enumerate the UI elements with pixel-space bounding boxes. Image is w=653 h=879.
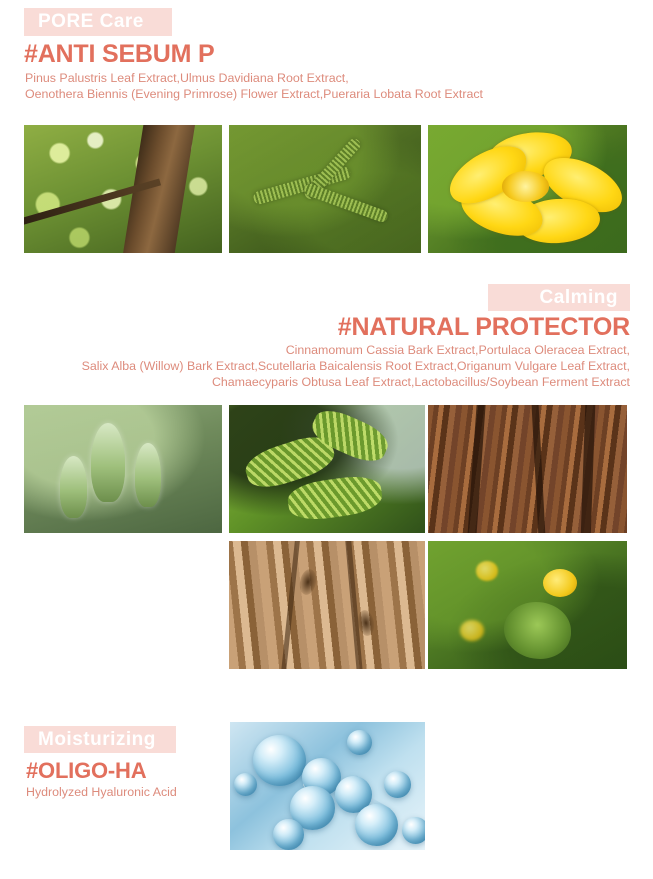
molecule-atom [253, 735, 306, 786]
molecule-atom [347, 730, 372, 756]
badge-moisturizing: Moisturizing [24, 726, 176, 753]
ingredient-list-moisturizing: Hydrolyzed Hyaluronic Acid [26, 784, 226, 800]
molecule-atom [402, 817, 425, 844]
molecule-atom [273, 819, 304, 850]
bark-crack-shape [467, 405, 486, 533]
molecule-atom [355, 804, 398, 846]
spruce-sprig-photo [229, 125, 421, 253]
stick-seam-shape [280, 541, 300, 669]
yellow-wildflower-photo [428, 541, 627, 669]
ingredient-line: Oenothera Biennis (Evening Primrose) Flo… [25, 86, 635, 102]
molecule-atom [234, 773, 257, 796]
foliage-shape [504, 602, 572, 658]
headline-anti-sebum-p: #ANTI SEBUM P [24, 40, 214, 69]
bark-crack-shape [581, 405, 596, 533]
section-moisturizing: Moisturizing #OLIGO-HA Hydrolyzed Hyalur… [0, 718, 653, 879]
stick-seam-shape [344, 541, 362, 669]
ingredient-line: Chamaecyparis Obtusa Leaf Extract,Lactob… [0, 374, 630, 390]
flower-bud-shape [543, 569, 577, 597]
flower-bud-shape [460, 620, 484, 640]
bark-crack-shape [532, 405, 546, 533]
flower-bud-shape [476, 561, 498, 580]
headline-oligo-ha: #OLIGO-HA [26, 758, 146, 784]
needle-shape [303, 182, 390, 223]
headline-natural-protector: #NATURAL PROTECTOR [338, 313, 630, 342]
ingredient-line: Salix Alba (Willow) Bark Extract,Scutell… [0, 358, 630, 374]
ingredient-list-calming: Cinnamomum Cassia Bark Extract,Portulaca… [0, 342, 630, 390]
badge-pore-care: PORE Care [24, 8, 172, 36]
tree-bark-photo [428, 405, 627, 533]
flower-center-shape [502, 171, 550, 202]
section-calming: Calming #NATURAL PROTECTOR Cinnamomum Ca… [0, 280, 653, 680]
cypress-foliage-photo [229, 405, 425, 533]
ingredient-line: Hydrolyzed Hyaluronic Acid [26, 784, 226, 800]
stick-knot-shape [297, 568, 318, 597]
badge-calming: Calming [488, 284, 630, 311]
section-pore-care: PORE Care #ANTI SEBUM P Pinus Palustris … [0, 0, 653, 265]
ingredient-list-pore-care: Pinus Palustris Leaf Extract,Ulmus David… [25, 70, 635, 102]
ingredient-line: Cinnamomum Cassia Bark Extract,Portulaca… [0, 342, 630, 358]
ingredient-line: Pinus Palustris Leaf Extract,Ulmus David… [25, 70, 635, 86]
herb-stalk-shape [60, 456, 88, 517]
herb-stalk-shape [135, 443, 161, 507]
ingredient-infographic: PORE Care #ANTI SEBUM P Pinus Palustris … [0, 0, 653, 879]
oregano-herb-photo [24, 405, 222, 533]
herb-stalk-shape [91, 423, 125, 502]
cypress-frond-shape [286, 473, 385, 524]
cinnamon-sticks-photo [229, 541, 425, 669]
pine-canopy-photo [24, 125, 222, 253]
hyaluronic-molecule-photo [230, 722, 425, 850]
yellow-primrose-flower-photo [428, 125, 627, 253]
molecule-atom [384, 771, 411, 798]
